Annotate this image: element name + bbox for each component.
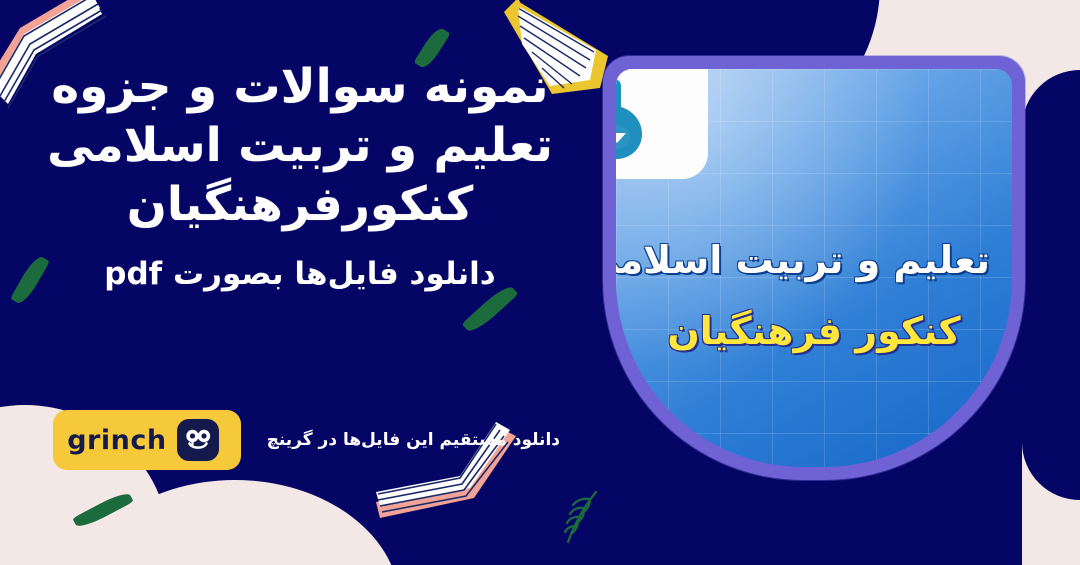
preview-panel[interactable]: تعلیم و تربیت اسلامی کنکور فرهنگیان — [603, 56, 1025, 480]
go-eyes-face-icon — [177, 419, 219, 461]
navy-rounded-right-mask — [1022, 70, 1080, 500]
teal-logo-glyph-icon — [616, 77, 656, 163]
preview-panel-inner: تعلیم و تربیت اسلامی کنکور فرهنگیان — [616, 69, 1012, 467]
headline-line-3: کنکورفرهنگیان — [46, 176, 554, 235]
gogrinch-logo-badge[interactable]: grinch — [53, 410, 240, 470]
page-title: نمونه سوالات و جزوه تعلیم و تربیت اسلامی… — [46, 58, 554, 234]
preview-title-line-2: کنکور فرهنگیان — [638, 307, 990, 356]
headline-line-2: تعلیم و تربیت اسلامی — [46, 117, 554, 176]
headline-block: نمونه سوالات و جزوه تعلیم و تربیت اسلامی… — [0, 0, 600, 565]
brand-row: grinch دانلود مستقیم این فایل‌ها در گرین… — [0, 400, 600, 480]
preview-title-line-1: تعلیم و تربیت اسلامی — [638, 237, 990, 285]
banner-canvas: نمونه سوالات و جزوه تعلیم و تربیت اسلامی… — [0, 0, 1080, 565]
logo-wordmark: grinch — [67, 427, 166, 454]
headline-line-1: نمونه سوالات و جزوه — [46, 58, 554, 117]
document-corner-badge — [616, 69, 708, 179]
brand-caption: دانلود مستقیم این فایل‌ها در گرینچ — [267, 430, 560, 450]
preview-panel-text: تعلیم و تربیت اسلامی کنکور فرهنگیان — [616, 237, 1012, 356]
subtitle: دانلود فایل‌ها بصورت pdf — [46, 256, 554, 292]
